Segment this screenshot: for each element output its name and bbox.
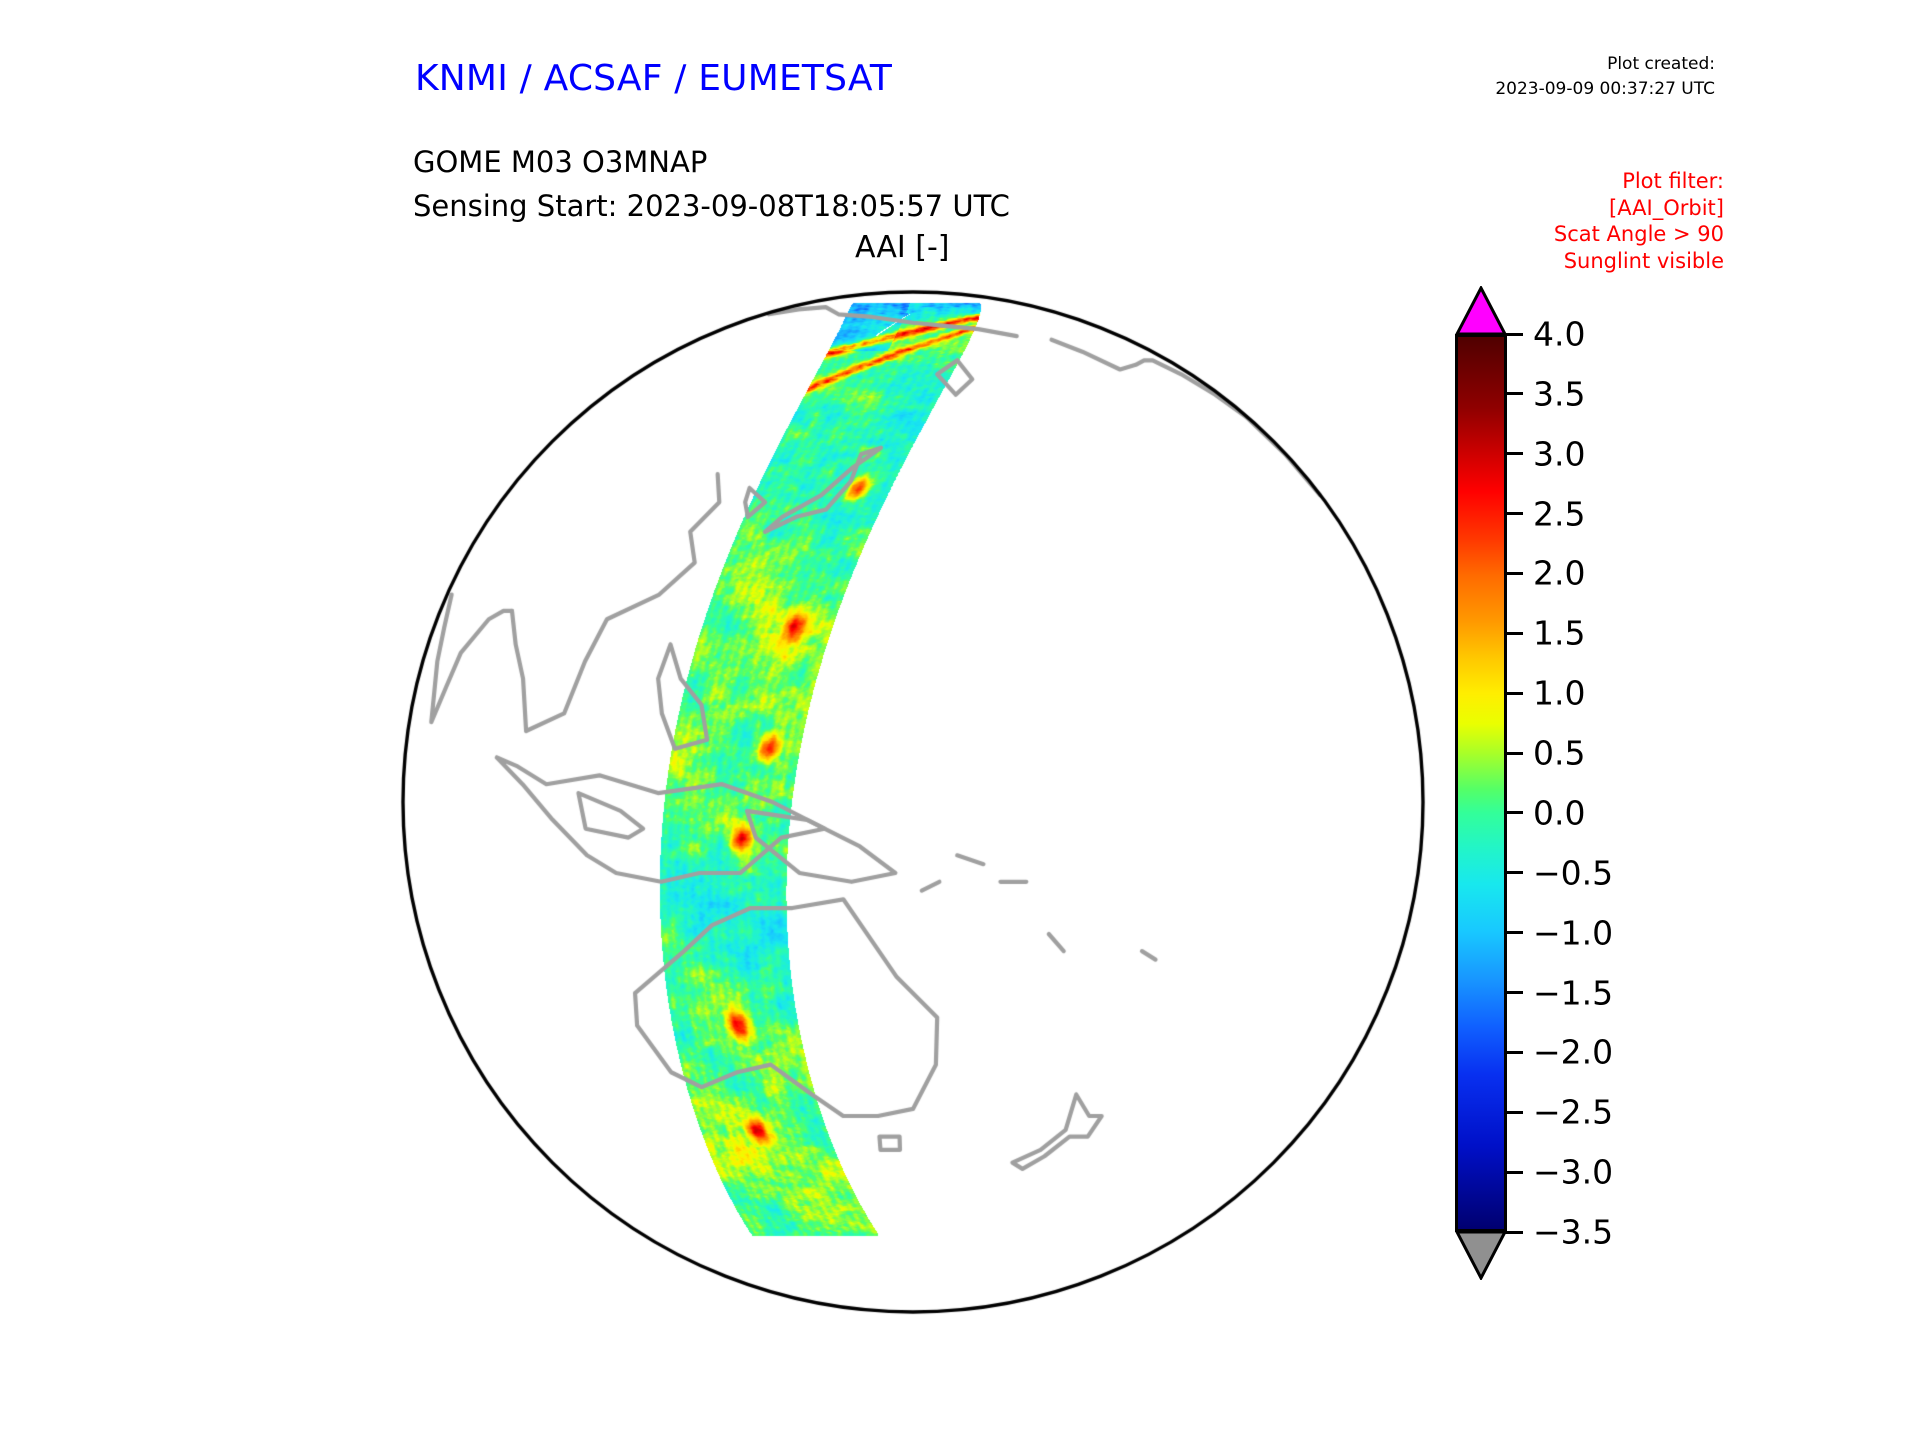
- colorbar-tick: [1505, 572, 1523, 575]
- colorbar-tick: [1505, 811, 1523, 814]
- colorbar-tick-label: −1.0: [1533, 916, 1613, 949]
- product-info-block: GOME M03 O3MNAP Sensing Start: 2023-09-0…: [413, 140, 1010, 228]
- colorbar-tick-label: 3.0: [1533, 437, 1585, 470]
- plot-created-timestamp: 2023-09-09 00:37:27 UTC: [1495, 77, 1715, 102]
- plot-created-block: Plot created: 2023-09-09 00:37:27 UTC: [1495, 52, 1715, 102]
- filter-line-2: [AAI_Orbit]: [1554, 195, 1724, 222]
- colorbar-tick: [1505, 752, 1523, 755]
- colorbar-tick-label: 0.0: [1533, 796, 1585, 829]
- colorbar-tick-label: −3.0: [1533, 1156, 1613, 1189]
- colorbar-tick: [1505, 1051, 1523, 1054]
- colorbar-tick-label: −2.5: [1533, 1096, 1613, 1129]
- colorbar-tick: [1505, 871, 1523, 874]
- colorbar-tick-label: 2.5: [1533, 497, 1585, 530]
- colorbar-tick-label: 0.5: [1533, 737, 1585, 770]
- colorbar-tick: [1505, 333, 1523, 336]
- product-name: GOME M03 O3MNAP: [413, 140, 1010, 184]
- colorbar-tick: [1505, 392, 1523, 395]
- orthographic-globe-map: [398, 287, 1428, 1317]
- colorbar: 4.03.53.02.52.01.51.00.50.0−0.5−1.0−1.5−…: [1437, 286, 1837, 1296]
- globe-data-canvas: [398, 287, 1428, 1317]
- colorbar-tick: [1505, 991, 1523, 994]
- colorbar-tick-label: −3.5: [1533, 1216, 1613, 1249]
- colorbar-ticks: 4.03.53.02.52.01.51.00.50.0−0.5−1.0−1.5−…: [1437, 286, 1837, 1296]
- colorbar-tick: [1505, 512, 1523, 515]
- colorbar-tick: [1505, 1171, 1523, 1174]
- colorbar-tick-label: 1.0: [1533, 677, 1585, 710]
- colorbar-tick-label: 4.0: [1533, 318, 1585, 351]
- plot-filter-block: Plot filter: [AAI_Orbit] Scat Angle > 90…: [1554, 168, 1724, 274]
- colorbar-tick-label: 3.5: [1533, 377, 1585, 410]
- colorbar-tick: [1505, 1111, 1523, 1114]
- colorbar-tick: [1505, 692, 1523, 695]
- colorbar-tick: [1505, 452, 1523, 455]
- filter-line-4: Sunglint visible: [1554, 248, 1724, 275]
- filter-line-1: Plot filter:: [1554, 168, 1724, 195]
- colorbar-tick-label: 1.5: [1533, 617, 1585, 650]
- sensing-start: Sensing Start: 2023-09-08T18:05:57 UTC: [413, 184, 1010, 228]
- colorbar-tick: [1505, 632, 1523, 635]
- colorbar-tick: [1505, 1231, 1523, 1234]
- colorbar-tick-label: −1.5: [1533, 976, 1613, 1009]
- plot-created-label: Plot created:: [1495, 52, 1715, 77]
- colorbar-tick-label: 2.0: [1533, 557, 1585, 590]
- colorbar-tick-label: −2.0: [1533, 1036, 1613, 1069]
- organisation-title: KNMI / ACSAF / EUMETSAT: [415, 58, 892, 99]
- filter-line-3: Scat Angle > 90: [1554, 221, 1724, 248]
- colorbar-tick: [1505, 931, 1523, 934]
- variable-title: AAI [-]: [855, 230, 950, 265]
- colorbar-tick-label: −0.5: [1533, 856, 1613, 889]
